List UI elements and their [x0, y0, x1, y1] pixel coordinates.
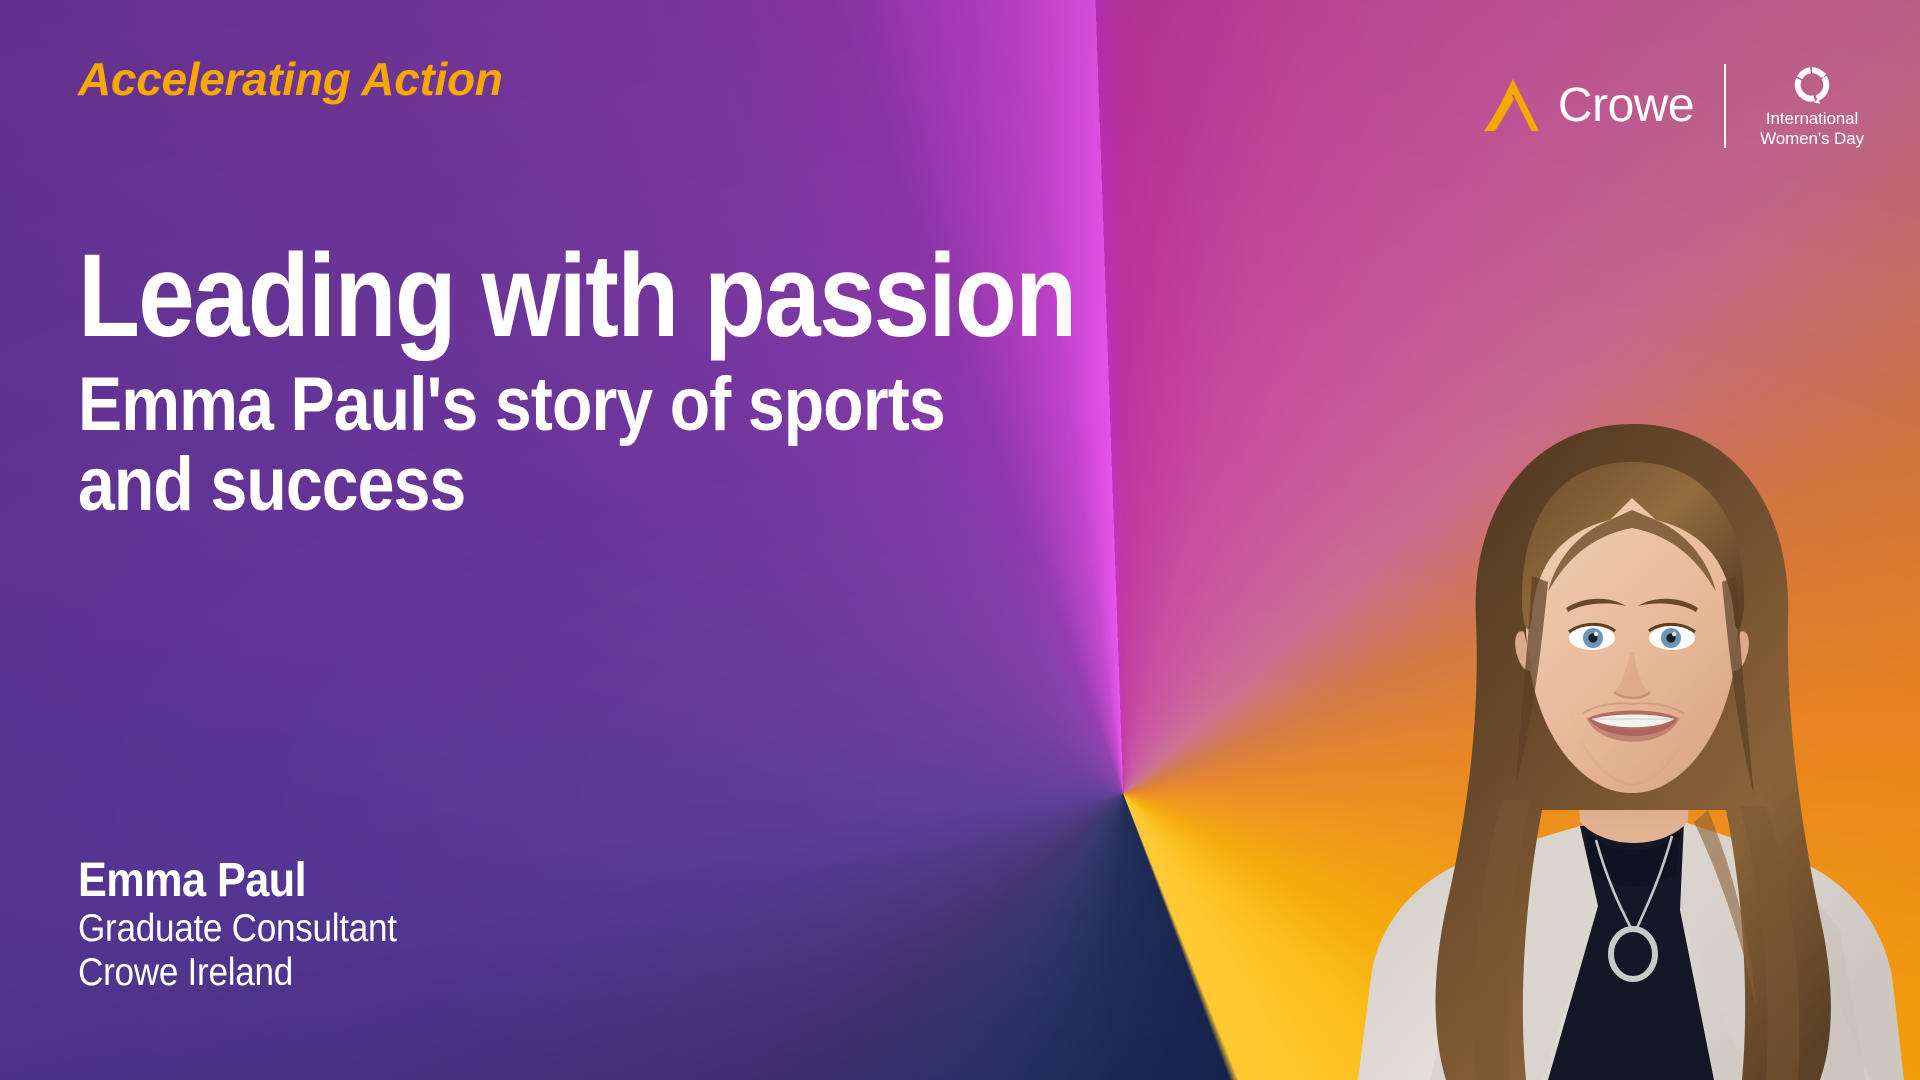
slide-headline: Leading with passion: [78, 238, 1093, 355]
speaker-organisation: Crowe Ireland: [78, 951, 397, 995]
logo-divider: [1724, 64, 1726, 148]
crowe-wordmark: Crowe: [1558, 82, 1694, 130]
iwd-line-2: Women's Day: [1760, 129, 1864, 148]
campaign-eyebrow: Accelerating Action: [78, 52, 503, 106]
crowe-logo: Crowe: [1484, 78, 1724, 134]
crowe-chevron-mark: [1484, 78, 1542, 134]
speaker-role: Graduate Consultant: [78, 907, 397, 951]
presentation-slide: Accelerating Action Crowe: [0, 0, 1920, 1080]
title-block: Leading with passion Emma Paul's story o…: [78, 238, 1258, 526]
slide-subheadline: Emma Paul's story of sports and success: [78, 365, 1105, 526]
logo-lockup: Crowe International Women's Day: [1484, 58, 1864, 154]
iwd-line-1: International: [1766, 109, 1858, 128]
speaker-portrait: [1280, 370, 1920, 1080]
circular-arrow-icon: [1792, 64, 1832, 104]
speaker-credit: Emma Paul Graduate Consultant Crowe Irel…: [78, 855, 432, 995]
international-womens-day-logo: International Women's Day: [1726, 64, 1864, 148]
speaker-name: Emma Paul: [78, 855, 397, 907]
iwd-wordmark: International Women's Day: [1760, 109, 1864, 148]
